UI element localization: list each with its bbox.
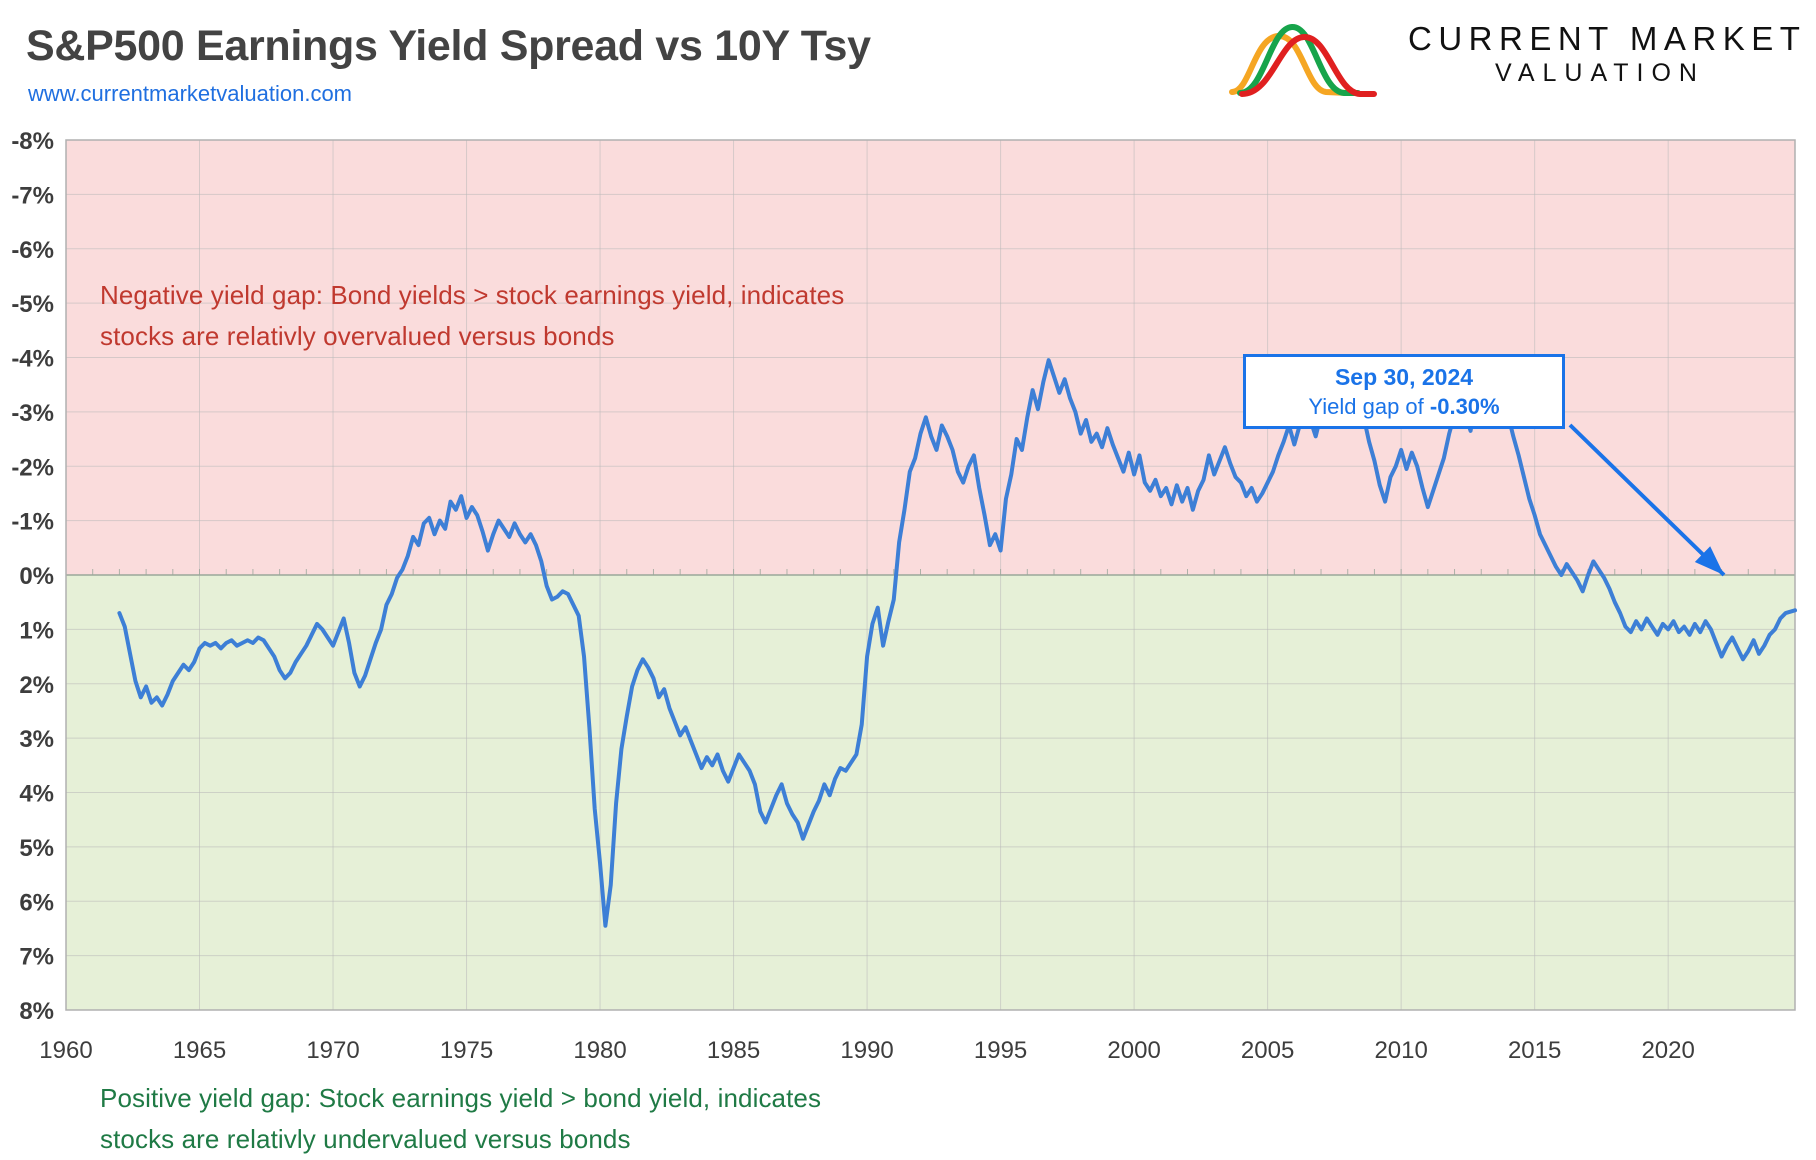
callout-value-prefix: Yield gap of [1308, 394, 1430, 419]
y-tick-label: 5% [19, 835, 54, 862]
y-tick-label: -5% [11, 291, 54, 318]
y-tick-label: -1% [11, 509, 54, 536]
y-tick-label: 0% [19, 563, 54, 590]
y-tick-label: -2% [11, 454, 54, 481]
logo-line-2: VALUATION [1408, 58, 1798, 89]
x-tick-label: 2020 [1641, 1037, 1694, 1064]
x-tick-label: 1970 [306, 1037, 359, 1064]
y-tick-label: -6% [11, 237, 54, 264]
x-tick-label: 1975 [440, 1037, 493, 1064]
x-tick-label: 1960 [39, 1037, 92, 1064]
y-tick-label: 6% [19, 889, 54, 916]
callout-box: Sep 30, 2024 Yield gap of -0.30% [1243, 354, 1565, 429]
y-tick-label: -8% [11, 128, 54, 155]
callout-value-number: -0.30% [1430, 394, 1500, 419]
negative-zone-note: Negative yield gap: Bond yields > stock … [100, 275, 844, 357]
chart-area: -8%-7%-6%-5%-4%-3%-2%-1%0%1%2%3%4%5%6%7%… [0, 125, 1816, 1116]
bell-curves-logo-icon [1228, 20, 1398, 100]
x-tick-label: 1995 [974, 1037, 1027, 1064]
logo-wordmark: CURRENT MARKET VALUATION [1408, 20, 1798, 89]
positive-zone-note: Positive yield gap: Stock earnings yield… [100, 1078, 821, 1160]
line-chart-svg: -8%-7%-6%-5%-4%-3%-2%-1%0%1%2%3%4%5%6%7%… [0, 125, 1816, 1116]
y-tick-label: -3% [11, 400, 54, 427]
y-tick-label: 7% [19, 944, 54, 971]
page-header: S&P500 Earnings Yield Spread vs 10Y Tsy … [0, 0, 1816, 125]
x-tick-label: 2010 [1374, 1037, 1427, 1064]
site-url-link[interactable]: www.currentmarketvaluation.com [28, 81, 352, 107]
x-tick-label: 1965 [173, 1037, 226, 1064]
x-tick-label: 1990 [840, 1037, 893, 1064]
logo-line-1: CURRENT MARKET [1408, 20, 1798, 58]
callout-value: Yield gap of -0.30% [1308, 392, 1499, 421]
x-tick-label: 2005 [1241, 1037, 1294, 1064]
y-tick-label: -7% [11, 182, 54, 209]
brand-logo: CURRENT MARKET VALUATION [1228, 8, 1798, 108]
y-tick-label: 2% [19, 672, 54, 699]
y-tick-label: 4% [19, 781, 54, 808]
y-tick-label: 8% [19, 998, 54, 1025]
x-tick-label: 2000 [1107, 1037, 1160, 1064]
y-tick-label: -4% [11, 346, 54, 373]
x-tick-label: 1980 [573, 1037, 626, 1064]
y-tick-label: 1% [19, 617, 54, 644]
callout-date: Sep 30, 2024 [1335, 362, 1473, 392]
page-title: S&P500 Earnings Yield Spread vs 10Y Tsy [26, 22, 871, 71]
x-tick-label: 1985 [707, 1037, 760, 1064]
y-tick-label: 3% [19, 726, 54, 753]
x-tick-label: 2015 [1508, 1037, 1561, 1064]
